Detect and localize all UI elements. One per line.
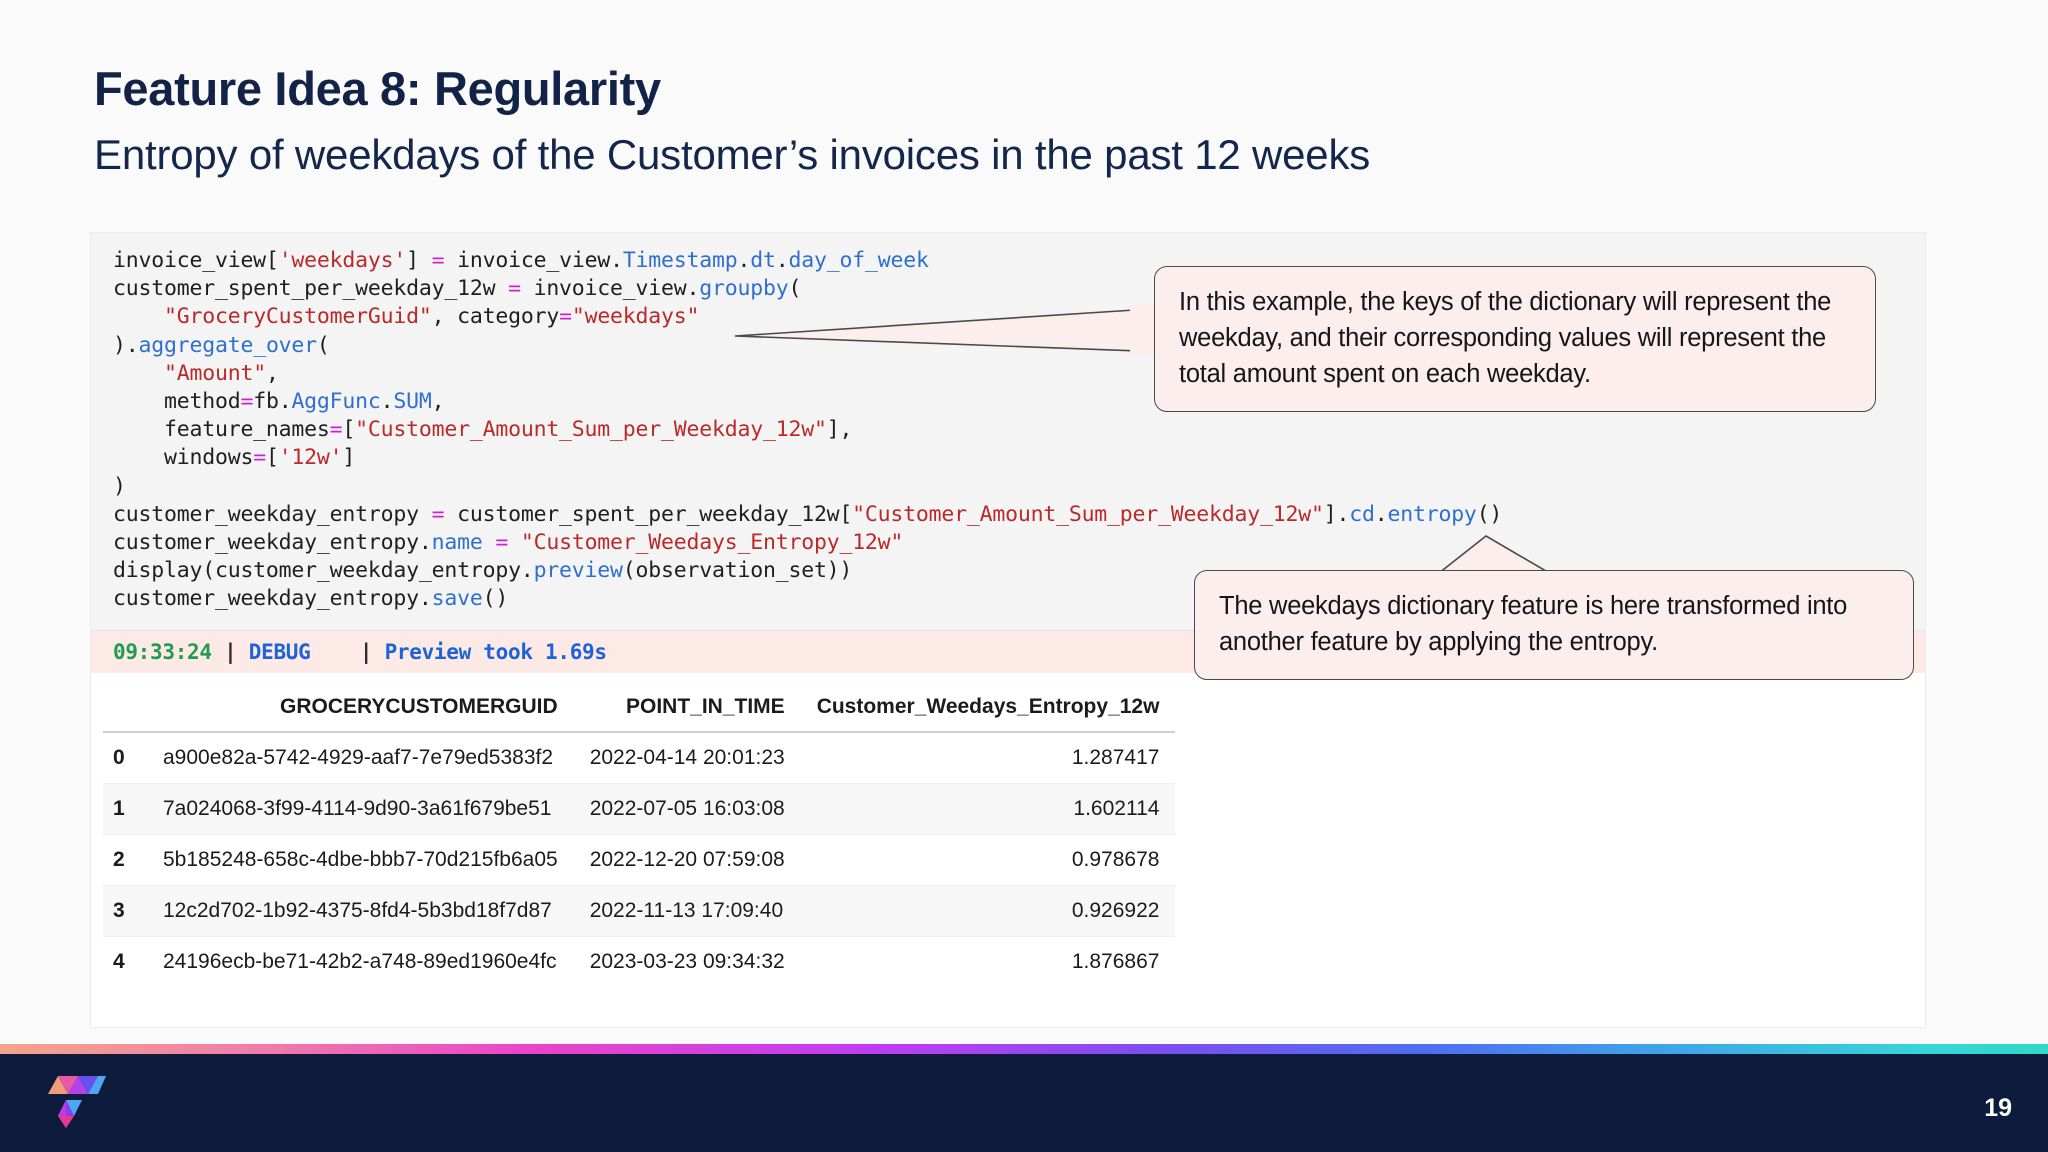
code-token: ] [342, 445, 355, 470]
cell-point-in-time: 2022-07-05 16:03:08 [574, 783, 801, 834]
code-token: = [432, 248, 445, 273]
code-token: ( [317, 333, 330, 358]
code-token: (observation_set)) [623, 558, 852, 583]
code-token: ) [113, 474, 126, 499]
slide-footer: 19 [0, 1044, 2048, 1152]
cell-point-in-time: 2022-04-14 20:01:23 [574, 732, 801, 784]
code-token: = [240, 389, 253, 414]
code-token: "Customer_Amount_Sum_per_Weekday_12w" [355, 417, 827, 442]
code-token: "Customer_Amount_Sum_per_Weekday_12w" [852, 502, 1324, 527]
code-token: "weekdays" [572, 304, 699, 329]
page-number: 19 [1984, 1094, 2012, 1123]
code-token [483, 530, 496, 555]
code-token: entropy [1387, 502, 1476, 527]
callout-entropy-transform: The weekdays dictionary feature is here … [1194, 570, 1914, 680]
log-timestamp: 09:33:24 [113, 640, 212, 664]
title-block: Feature Idea 8: Regularity Entropy of we… [94, 62, 1370, 180]
cell-guid: a900e82a-5742-4929-aaf7-7e79ed5383f2 [147, 732, 574, 784]
code-token: fb. [253, 389, 291, 414]
cell-guid: 24196ecb-be71-42b2-a748-89ed1960e4fc [147, 936, 574, 987]
cell-point-in-time: 2022-12-20 07:59:08 [574, 834, 801, 885]
code-token: = [330, 417, 343, 442]
brand-logo-icon [44, 1072, 108, 1130]
code-token: 'weekdays' [279, 248, 406, 273]
log-level: DEBUG [249, 640, 311, 664]
code-token: . [1375, 502, 1388, 527]
code-token: dt [750, 248, 776, 273]
code-token: "Customer_Weedays_Entropy_12w" [521, 530, 903, 555]
gradient-strip [0, 1044, 2048, 1054]
page-title: Feature Idea 8: Regularity [94, 62, 1370, 116]
cell-guid: 7a024068-3f99-4114-9d90-3a61f679be51 [147, 783, 574, 834]
code-token: , [266, 361, 279, 386]
code-token: ]. [1324, 502, 1350, 527]
cell-point-in-time: 2022-11-13 17:09:40 [574, 885, 801, 936]
column-header-point-in-time: POINT_IN_TIME [574, 685, 801, 732]
table-row: 25b185248-658c-4dbe-bbb7-70d215fb6a05202… [103, 834, 1175, 885]
row-index: 1 [103, 783, 147, 834]
code-token: windows [113, 445, 253, 470]
row-index: 2 [103, 834, 147, 885]
code-token: [ [342, 417, 355, 442]
dataframe-output: GROCERYCUSTOMERGUID POINT_IN_TIME Custom… [91, 673, 1925, 1027]
cell-entropy-value: 1.287417 [801, 732, 1176, 784]
cell-point-in-time: 2023-03-23 09:34:32 [574, 936, 801, 987]
column-header-guid: GROCERYCUSTOMERGUID [147, 685, 574, 732]
code-token: "Amount" [164, 361, 266, 386]
row-index: 4 [103, 936, 147, 987]
row-index: 0 [103, 732, 147, 784]
table-header-row: GROCERYCUSTOMERGUID POINT_IN_TIME Custom… [103, 685, 1175, 732]
code-token: () [483, 586, 509, 611]
cell-guid: 12c2d702-1b92-4375-8fd4-5b3bd18f7d87 [147, 885, 574, 936]
code-token: customer_weekday_entropy. [113, 586, 432, 611]
code-token: customer_spent_per_weekday_12w[ [444, 502, 852, 527]
log-message: Preview took 1.69s [385, 640, 607, 664]
code-token [113, 304, 164, 329]
code-token: preview [534, 558, 623, 583]
slide: Feature Idea 8: Regularity Entropy of we… [0, 0, 2048, 1152]
code-token: Timestamp [623, 248, 738, 273]
code-token [508, 530, 521, 555]
cell-entropy-value: 0.978678 [801, 834, 1176, 885]
code-token: AggFunc [291, 389, 380, 414]
code-token: customer_weekday_entropy [113, 502, 432, 527]
row-index: 3 [103, 885, 147, 936]
table-row: 312c2d702-1b92-4375-8fd4-5b3bd18f7d87202… [103, 885, 1175, 936]
code-token: cd [1349, 502, 1375, 527]
code-token: invoice_view[ [113, 248, 279, 273]
column-header-entropy: Customer_Weedays_Entropy_12w [801, 685, 1176, 732]
code-token: = [432, 502, 445, 527]
code-token: invoice_view. [521, 276, 699, 301]
code-token: '12w' [279, 445, 343, 470]
code-token: customer_spent_per_weekday_12w [113, 276, 508, 301]
code-token: display(customer_weekday_entropy. [113, 558, 534, 583]
code-token: "GroceryCustomerGuid" [164, 304, 432, 329]
code-token: , category [432, 304, 559, 329]
table-row: 424196ecb-be71-42b2-a748-89ed1960e4fc202… [103, 936, 1175, 987]
code-token: invoice_view. [444, 248, 622, 273]
log-separator-1: | [212, 640, 249, 664]
code-token: . [381, 389, 394, 414]
code-token [113, 361, 164, 386]
cell-entropy-value: 1.876867 [801, 936, 1176, 987]
code-token: [ [266, 445, 279, 470]
code-token: . [776, 248, 789, 273]
code-token: ). [113, 333, 139, 358]
code-token: groupby [699, 276, 788, 301]
callout-dictionary-keys: In this example, the keys of the diction… [1154, 266, 1876, 412]
code-token: save [432, 586, 483, 611]
table-body: 0a900e82a-5742-4929-aaf7-7e79ed5383f2202… [103, 732, 1175, 987]
code-token: . [738, 248, 751, 273]
code-token: day_of_week [789, 248, 929, 273]
code-token: , [432, 389, 445, 414]
cell-guid: 5b185248-658c-4dbe-bbb7-70d215fb6a05 [147, 834, 574, 885]
code-token: = [559, 304, 572, 329]
code-token: () [1477, 502, 1503, 527]
page-subtitle: Entropy of weekdays of the Customer’s in… [94, 130, 1370, 180]
code-token: = [495, 530, 508, 555]
table-row: 0a900e82a-5742-4929-aaf7-7e79ed5383f2202… [103, 732, 1175, 784]
code-token: customer_weekday_entropy. [113, 530, 432, 555]
code-token: ] [406, 248, 432, 273]
code-token: feature_names [113, 417, 330, 442]
code-token: ], [827, 417, 853, 442]
log-separator-2: | [311, 640, 385, 664]
code-token: aggregate_over [139, 333, 317, 358]
code-token: method [113, 389, 240, 414]
code-token: name [432, 530, 483, 555]
code-token: = [253, 445, 266, 470]
code-token: ( [788, 276, 801, 301]
table-row: 17a024068-3f99-4114-9d90-3a61f679be51202… [103, 783, 1175, 834]
cell-entropy-value: 0.926922 [801, 885, 1176, 936]
cell-entropy-value: 1.602114 [801, 783, 1176, 834]
column-header-index [103, 685, 147, 732]
results-table: GROCERYCUSTOMERGUID POINT_IN_TIME Custom… [103, 685, 1175, 987]
code-token: = [508, 276, 521, 301]
code-token: SUM [393, 389, 431, 414]
